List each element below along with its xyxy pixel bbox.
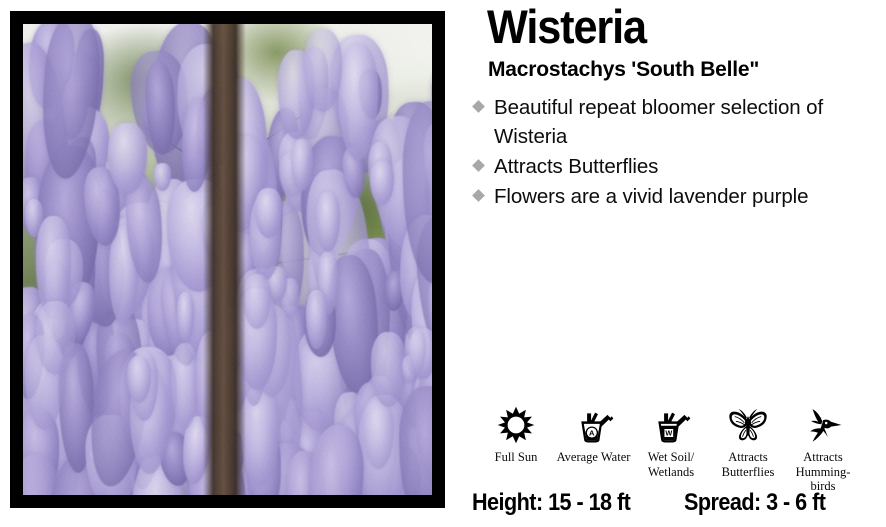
botanical-name: Macrostachys 'South Belle" xyxy=(488,57,759,82)
height-value: Height: 15 - 18 ft xyxy=(472,488,630,518)
hummingbird-icon xyxy=(803,404,843,446)
feature-text: Flowers are a vivid lavender purple xyxy=(494,185,808,208)
full-sun-icon xyxy=(497,404,535,446)
page-title: Wisteria xyxy=(487,2,646,52)
average-water-can-icon: A xyxy=(574,404,614,446)
care-icon-label: Full Sun xyxy=(495,450,538,465)
wet-soil-water-can-icon: W xyxy=(651,404,691,446)
diamond-bullet-icon xyxy=(472,189,485,202)
feature-list: Beautiful repeat bloomer selection of Wi… xyxy=(467,93,885,212)
list-item: Attracts Butterflies xyxy=(467,152,885,181)
feature-text: Attracts Butterflies xyxy=(494,155,658,178)
diamond-bullet-icon xyxy=(472,100,485,113)
feature-text: Beautiful repeat bloomer selection of Wi… xyxy=(494,96,823,148)
care-icon-label: Average Water xyxy=(557,450,631,465)
care-icon-cell-butterflies: Attracts Butterflies xyxy=(709,404,787,479)
diamond-bullet-icon xyxy=(472,159,485,172)
butterfly-icon xyxy=(726,404,770,446)
care-icon-row: Full Sun A xyxy=(478,404,882,494)
care-icon-cell-hummingbirds: Attracts Humming- birds xyxy=(787,404,859,494)
spread-value: Spread: 3 - 6 ft xyxy=(684,488,825,518)
care-icon-label: Attracts Butterflies xyxy=(722,450,775,479)
plant-photo-frame xyxy=(10,11,445,508)
care-icon-cell-average-water: A Average Water xyxy=(554,404,633,465)
care-icon-cell-wet-soil: W Wet Soil/ Wetlands xyxy=(633,404,709,479)
plant-photo xyxy=(23,24,432,495)
dimensions-row: Height: 15 - 18 ft Spread: 3 - 6 ft xyxy=(472,488,886,520)
water-letter: W xyxy=(665,429,672,438)
list-item: Beautiful repeat bloomer selection of Wi… xyxy=(467,93,885,151)
photo-grain-overlay xyxy=(23,24,432,495)
care-icon-label: Wet Soil/ Wetlands xyxy=(648,450,695,479)
care-icon-cell-full-sun: Full Sun xyxy=(478,404,554,465)
care-icon-label: Attracts Humming- birds xyxy=(796,450,851,494)
list-item: Flowers are a vivid lavender purple xyxy=(467,182,885,211)
plant-info-panel: Wisteria Macrostachys 'South Belle" Beau… xyxy=(462,0,886,527)
water-letter: A xyxy=(589,429,595,438)
